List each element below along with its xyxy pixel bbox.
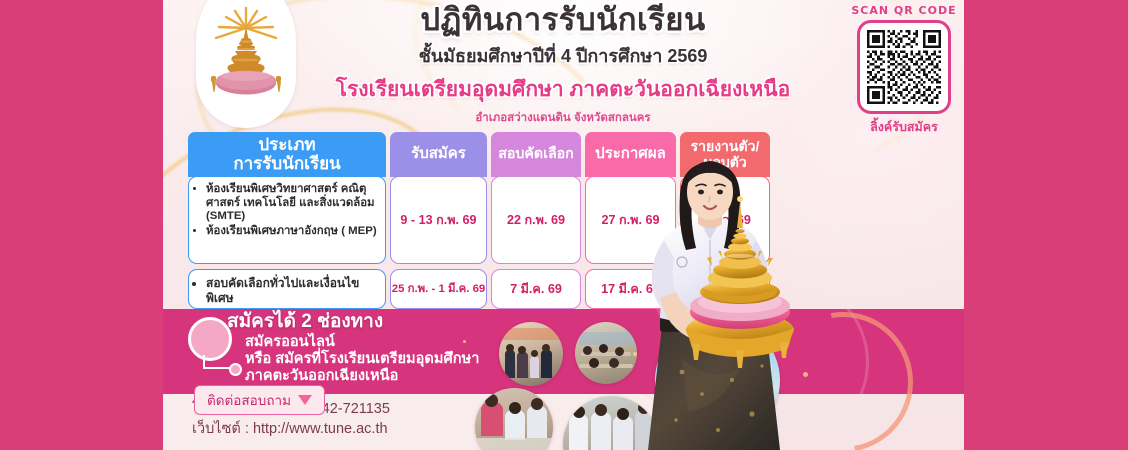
school-name: โรงเรียนเตรียมอุดมศึกษา ภาคตะวันออกเฉียง… <box>283 73 843 106</box>
column-header-apply: รับสมัคร <box>390 132 487 177</box>
cell-apply-date: 25 ก.พ. - 1 มี.ค. 69 <box>390 269 487 309</box>
left-pink-rail <box>0 0 163 450</box>
cell-apply-date: 9 - 13 ก.พ. 69 <box>390 176 487 264</box>
column-header-exam: สอบคัดเลือก <box>491 132 581 177</box>
qr-caption-top: SCAN QR CODE <box>849 4 959 17</box>
list-item: ห้องเรียนพิเศษภาษาอังกฤษ ( MEP) <box>206 225 379 238</box>
apply-channel-onsite-1: หรือ สมัครที่โรงเรียนเตรียมอุดมศึกษา <box>245 351 479 368</box>
student-photo-illustration <box>636 158 811 450</box>
column-header-category: ประเภท การรับนักเรียน <box>188 132 386 177</box>
cell-exam-date: 22 ก.พ. 69 <box>491 176 581 264</box>
cell-category: สอบคัดเลือกทั่วไปและเงื่อนไขพิเศษ <box>188 269 386 309</box>
category-list: สอบคัดเลือกทั่วไปและเงื่อนไขพิเศษ <box>193 276 379 305</box>
qr-code-frame[interactable] <box>857 20 951 114</box>
apply-channels-heading: สมัครได้ 2 ช่องทาง <box>227 312 479 333</box>
apply-channel-onsite-2: ภาคตะวันออกเฉียงเหนือ <box>245 368 479 385</box>
list-item: สอบคัดเลือกทั่วไปและเงื่อนไขพิเศษ <box>206 276 379 304</box>
photo-ceremony <box>499 322 563 386</box>
page-title: ปฏิทินการรับนักเรียน <box>283 2 843 39</box>
chevron-down-icon <box>298 395 312 405</box>
photo-lab <box>475 388 553 450</box>
poster-title-group: ปฏิทินการรับนักเรียน ชั้นมัธยมศึกษาปีที่… <box>283 2 843 127</box>
subtitle-level: ชั้นมัธยมศึกษาปีที่ 4 ปีการศึกษา 2569 <box>283 41 843 70</box>
student-with-offering-tray <box>636 158 811 450</box>
apply-channel-online: สมัครออนไลน์ <box>245 334 479 351</box>
poster-card: ปฏิทินการรับนักเรียน ชั้นมัธยมศึกษาปีที่… <box>163 0 964 450</box>
admission-calendar-poster: ปฏิทินการรับนักเรียน ชั้นมัธยมศึกษาปีที่… <box>0 0 1128 450</box>
sparkle-decoration <box>463 340 466 343</box>
contact-button-label: ติดต่อสอบถาม <box>207 389 291 411</box>
school-emblem <box>196 0 296 128</box>
school-location: อำเภอสว่างแดนดิน จังหวัดสกลนคร <box>283 109 843 127</box>
emblem-icon <box>204 4 288 108</box>
right-pink-rail <box>964 0 1128 450</box>
photo-classroom <box>575 322 637 384</box>
list-item: ห้องเรียนพิเศษวิทยาศาสตร์ คณิตุศาสตร์ เท… <box>206 183 379 223</box>
apply-channels-text: สมัครได้ 2 ช่องทาง สมัครออนไลน์ หรือ สมั… <box>227 312 479 386</box>
website-url[interactable]: เว็บไซต์ : http://www.tune.ac.th <box>192 420 390 440</box>
qr-caption-bottom: ลิ้งค์รับสมัคร <box>849 117 959 137</box>
bullet-marker-icon <box>188 317 232 361</box>
cell-category: ห้องเรียนพิเศษวิทยาศาสตร์ คณิตุศาสตร์ เท… <box>188 176 386 264</box>
qr-code-icon[interactable] <box>867 30 941 104</box>
contact-inquiry-button[interactable]: ติดต่อสอบถาม <box>194 385 325 415</box>
category-list: ห้องเรียนพิเศษวิทยาศาสตร์ คณิตุศาสตร์ เท… <box>193 183 379 239</box>
qr-code-block[interactable]: SCAN QR CODE <box>849 4 959 137</box>
cell-exam-date: 7 มี.ค. 69 <box>491 269 581 309</box>
